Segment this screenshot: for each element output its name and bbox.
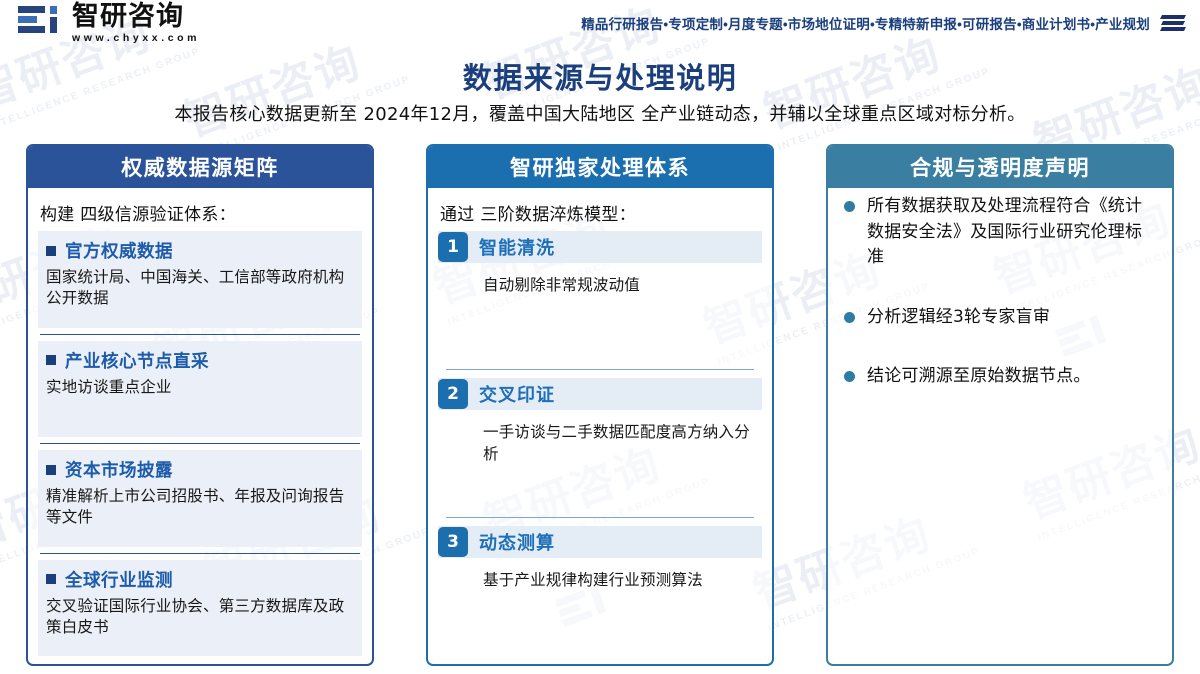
page-subtitle: 本报告核心数据更新至 2024年12月，覆盖中国大陆地区 全产业链动态，并辅以全… [0,100,1200,126]
dot-bullet-icon [844,371,855,382]
step-number-badge: 1 [438,232,468,262]
card-3-body: 所有数据获取及处理流程符合《统计数据安全法》及国际行业研究伦理标准 分析逻辑经3… [828,188,1172,664]
step-desc: 自动剔除非常规波动值 [483,275,762,296]
step-header: 3 动态测算 [438,526,762,558]
step-desc: 一手访谈与二手数据匹配度高方纳入分析 [483,422,762,465]
card-2-body: 1 智能清洗 自动剔除非常规波动值 2 交叉印证 一手访谈与二手数据匹配度高方纳… [428,231,772,664]
list-item[interactable]: 资本市场披露 精准解析上市公司招股书、年报及问询报告等文件 [38,450,362,547]
item-title-row: 官方权威数据 [46,238,354,263]
cards-row: 权威数据源矩阵 构建 四级信源验证体系： 官方权威数据 国家统计局、中国海关、工… [0,144,1200,668]
list-item[interactable]: 所有数据获取及处理流程符合《统计数据安全法》及国际行业研究伦理标准 [844,194,1156,271]
list-item[interactable]: 结论可溯源至原始数据节点。 [844,364,1156,390]
bullet-text: 所有数据获取及处理流程符合《统计数据安全法》及国际行业研究伦理标准 [867,194,1156,271]
bullet-text: 结论可溯源至原始数据节点。 [867,364,1091,390]
step-number-badge: 2 [438,379,468,409]
dot-bullet-icon [844,312,855,323]
brand-name: 智研咨询 [72,3,200,30]
step-title: 动态测算 [479,529,555,555]
card-1-body: 官方权威数据 国家统计局、中国海关、工信部等政府机构公开数据 产业核心节点直采 … [28,231,372,664]
process-step[interactable]: 2 交叉印证 一手访谈与二手数据匹配度高方纳入分析 [438,378,762,508]
divider [40,334,360,335]
brand-logo[interactable]: 智研咨询 www.chyxx.com [18,3,200,44]
item-desc: 国家统计局、中国海关、工信部等政府机构公开数据 [46,267,354,310]
square-bullet-icon [46,465,56,475]
bullet-list: 所有数据获取及处理流程符合《统计数据安全法》及国际行业研究伦理标准 分析逻辑经3… [838,188,1162,424]
card-slot-3: 合规与透明度声明 所有数据获取及处理流程符合《统计数据安全法》及国际行业研究伦理… [800,144,1200,668]
card-authoritative-sources: 权威数据源矩阵 构建 四级信源验证体系： 官方权威数据 国家统计局、中国海关、工… [26,144,374,666]
item-title: 产业核心节点直采 [65,348,209,373]
item-desc: 实地访谈重点企业 [46,377,354,398]
card-2-header: 智研独家处理体系 [428,146,772,188]
card-slot-1: 权威数据源矩阵 构建 四级信源验证体系： 官方权威数据 国家统计局、中国海关、工… [0,144,400,668]
brand-url: www.chyxx.com [72,33,200,44]
step-title: 智能清洗 [479,234,555,260]
card-slot-2: 智研独家处理体系 通过 三阶数据淬炼模型： 1 智能清洗 自动剔除非常规波动值 … [400,144,800,668]
step-header: 1 智能清洗 [438,231,762,263]
process-step[interactable]: 1 智能清洗 自动剔除非常规波动值 [438,231,762,361]
list-item[interactable]: 产业核心节点直采 实地访谈重点企业 [38,341,362,438]
item-title: 资本市场披露 [65,457,173,482]
divider [446,369,754,370]
step-number-badge: 3 [438,527,468,557]
item-title-row: 资本市场披露 [46,457,354,482]
card-1-lead: 构建 四级信源验证体系： [28,188,372,231]
square-bullet-icon [46,355,56,365]
item-title: 全球行业监测 [65,567,173,592]
list-item[interactable]: 官方权威数据 国家统计局、中国海关、工信部等政府机构公开数据 [38,231,362,328]
step-desc: 基于产业规律构建行业预测算法 [483,570,762,591]
card-compliance-statement: 合规与透明度声明 所有数据获取及处理流程符合《统计数据安全法》及国际行业研究伦理… [826,144,1174,666]
item-title-row: 产业核心节点直采 [46,348,354,373]
dot-bullet-icon [844,201,855,212]
item-desc: 交叉验证国际行业协会、第三方数据库及政策白皮书 [46,596,354,639]
square-bullet-icon [46,246,56,256]
list-item[interactable]: 分析逻辑经3轮专家盲审 [844,305,1156,331]
chyxx-logo-mark-icon [18,6,64,40]
card-2-lead: 通过 三阶数据淬炼模型： [428,188,772,231]
card-processing-system: 智研独家处理体系 通过 三阶数据淬炼模型： 1 智能清洗 自动剔除非常规波动值 … [426,144,774,666]
divider [446,517,754,518]
card-3-header: 合规与透明度声明 [828,146,1172,188]
bullet-text: 分析逻辑经3轮专家盲审 [867,305,1050,331]
divider [40,553,360,554]
card-1-header: 权威数据源矩阵 [28,146,372,188]
list-item[interactable]: 全球行业监测 交叉验证国际行业协会、第三方数据库及政策白皮书 [38,560,362,657]
step-title: 交叉印证 [479,381,555,407]
square-bullet-icon [46,574,56,584]
hamburger-menu-icon[interactable] [1160,13,1186,33]
header-tagline: 精品行研报告•专项定制•月度专题•市场地位证明•专精特新申报•可研报告•商业计划… [581,13,1150,33]
process-step[interactable]: 3 动态测算 基于产业规律构建行业预测算法 [438,526,762,656]
page-title: 数据来源与处理说明 [0,55,1200,97]
header-bar: 智研咨询 www.chyxx.com 精品行研报告•专项定制•月度专题•市场地位… [0,0,1200,46]
item-desc: 精准解析上市公司招股书、年报及问询报告等文件 [46,486,354,529]
divider [40,443,360,444]
item-title-row: 全球行业监测 [46,567,354,592]
step-header: 2 交叉印证 [438,378,762,410]
item-title: 官方权威数据 [65,238,173,263]
